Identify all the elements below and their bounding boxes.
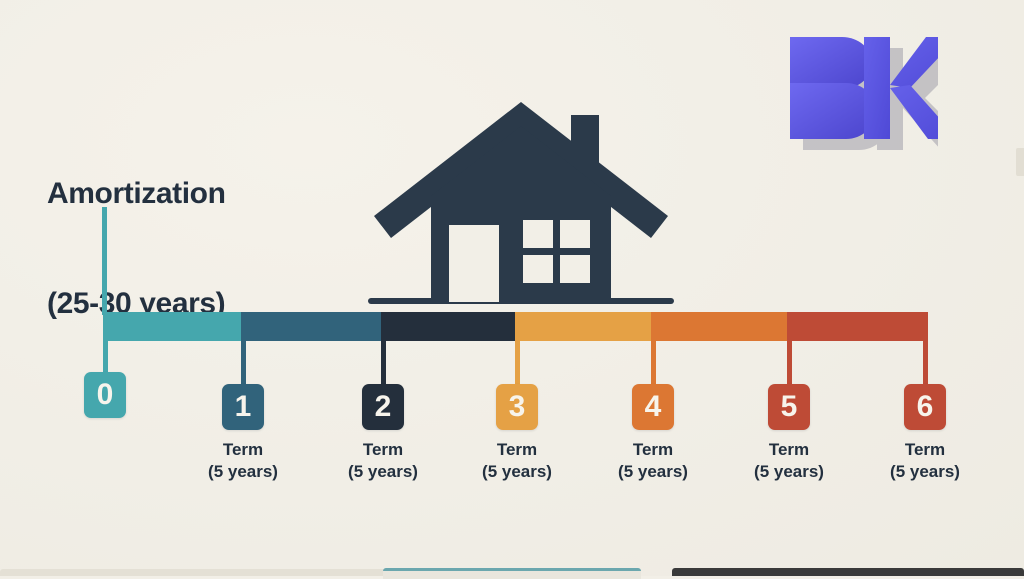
marker-number: 0 (97, 380, 114, 410)
marker-label-main: Term (497, 440, 537, 459)
marker-label-main: Term (769, 440, 809, 459)
marker-number: 1 (235, 392, 252, 422)
marker-label-main: Term (633, 440, 673, 459)
marker-badge: 4 (632, 384, 674, 430)
marker-label: Term (5 years) (348, 439, 418, 483)
marker-stem (381, 312, 386, 384)
marker-stem (651, 312, 656, 384)
marker-stem (515, 312, 520, 384)
marker-label: Term (5 years) (618, 439, 688, 483)
offscreen-panel-center (383, 568, 641, 579)
marker-badge: 6 (904, 384, 946, 430)
marker-stem (787, 312, 792, 384)
marker-label: Term (5 years) (208, 439, 278, 483)
marker-label-main: Term (363, 440, 403, 459)
marker-stem (241, 312, 246, 384)
marker-badge: 0 (84, 372, 126, 418)
timeline-marker-1: 1 Term (5 years) (220, 312, 266, 483)
marker-number: 3 (509, 392, 526, 422)
bk-logo (786, 31, 938, 153)
marker-stem (103, 312, 108, 372)
marker-number: 5 (781, 392, 798, 422)
marker-label-sub: (5 years) (890, 461, 960, 483)
offscreen-panel-left (0, 569, 392, 576)
marker-label-sub: (5 years) (482, 461, 552, 483)
amortization-origin-tick (102, 207, 107, 315)
marker-badge: 2 (362, 384, 404, 430)
timeline-marker-3: 3 Term (5 years) (494, 312, 540, 483)
timeline-marker-4: 4 Term (5 years) (630, 312, 676, 483)
marker-label: Term (5 years) (890, 439, 960, 483)
title-line-primary: Amortization (47, 176, 226, 213)
marker-number: 2 (375, 392, 392, 422)
offscreen-panel-right (672, 568, 1024, 576)
marker-label-sub: (5 years) (208, 461, 278, 483)
timeline-marker-6: 6 Term (5 years) (902, 312, 948, 483)
marker-number: 4 (645, 392, 662, 422)
offscreen-panel-edge (1016, 148, 1024, 176)
timeline-marker-2: 2 Term (5 years) (360, 312, 406, 483)
marker-badge: 3 (496, 384, 538, 430)
marker-badge: 5 (768, 384, 810, 430)
marker-label-sub: (5 years) (348, 461, 418, 483)
marker-label: Term (5 years) (482, 439, 552, 483)
marker-label-sub: (5 years) (754, 461, 824, 483)
marker-label-main: Term (223, 440, 263, 459)
marker-label-sub: (5 years) (618, 461, 688, 483)
slide-canvas: Amortization (25-30 years) (0, 0, 1024, 576)
marker-label: Term (5 years) (754, 439, 824, 483)
marker-badge: 1 (222, 384, 264, 430)
page-title: Amortization (25-30 years) (47, 103, 226, 396)
marker-number: 6 (917, 392, 934, 422)
timeline-marker-0: 0 (82, 312, 128, 418)
marker-stem (923, 312, 928, 384)
timeline-marker-5: 5 Term (5 years) (766, 312, 812, 483)
marker-label-main: Term (905, 440, 945, 459)
house-icon (368, 92, 674, 312)
